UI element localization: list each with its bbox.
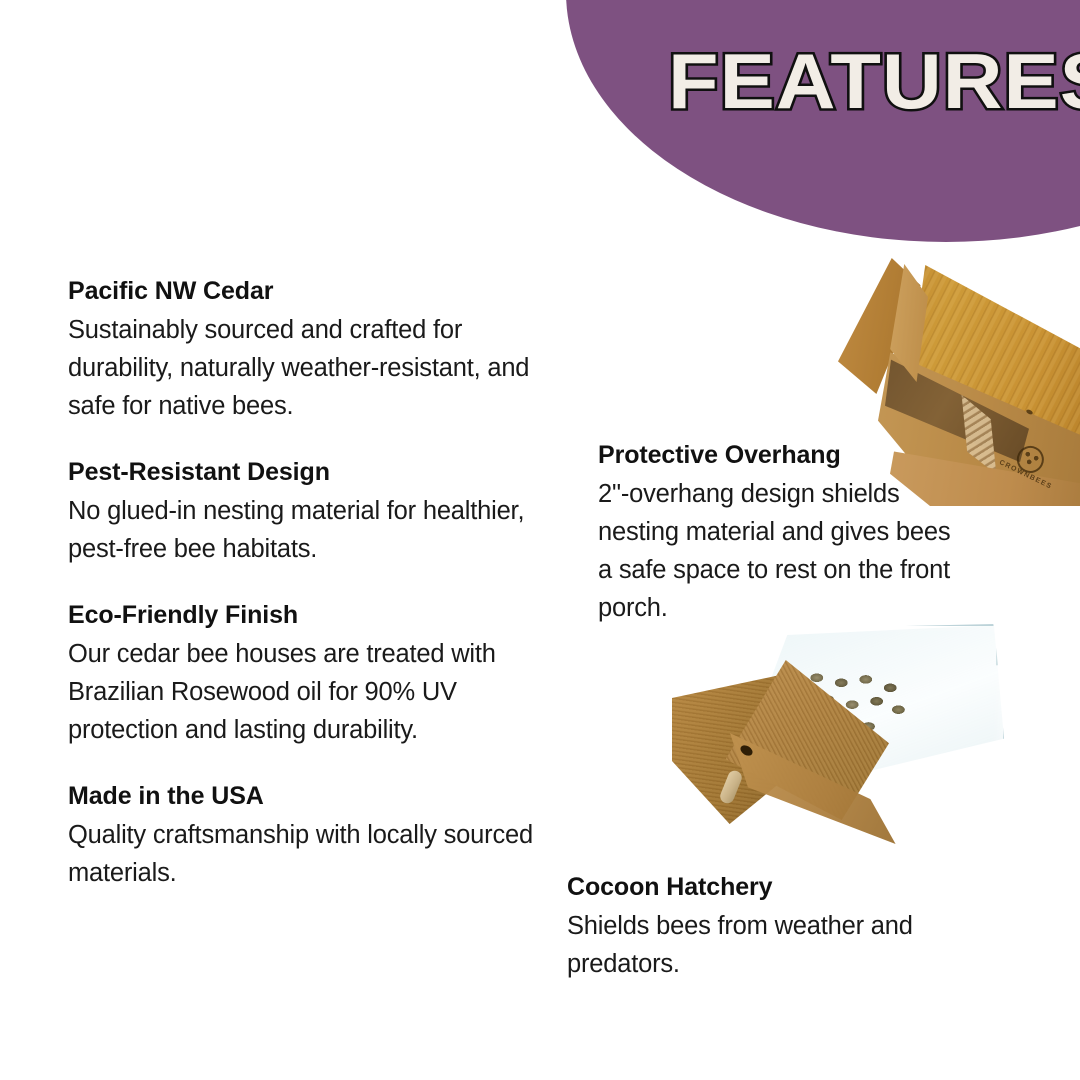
feature-item-pacific-nw-cedar: Pacific NW Cedar Sustainably sourced and… [68, 274, 538, 425]
feature-item-protective-overhang: Protective Overhang 2"-overhang design s… [598, 438, 970, 627]
right-feature-column-top: Protective Overhang 2"-overhang design s… [598, 438, 970, 627]
feature-body: Quality craftsmanship with locally sourc… [68, 816, 538, 892]
feature-body: Sustainably sourced and crafted for dura… [68, 311, 538, 425]
feature-title: Eco-Friendly Finish [68, 598, 538, 632]
feature-item-made-in-the-usa: Made in the USA Quality craftsmanship wi… [68, 779, 538, 892]
feature-item-cocoon-hatchery: Cocoon Hatchery Shields bees from weathe… [567, 870, 967, 983]
feature-body: Our cedar bee houses are treated with Br… [68, 635, 538, 749]
hatchery-tray-rim [764, 624, 998, 672]
cocoon-hatchery-photo [672, 618, 1002, 848]
right-feature-column-bottom: Cocoon Hatchery Shields bees from weathe… [567, 870, 967, 983]
feature-title: Protective Overhang [598, 438, 970, 472]
feature-title: Pest-Resistant Design [68, 455, 538, 489]
feature-title: Made in the USA [68, 779, 538, 813]
feature-body: Shields bees from weather and predators. [567, 907, 967, 983]
feature-body: No glued-in nesting material for healthi… [68, 492, 538, 568]
feature-body: 2"-overhang design shields nesting mater… [598, 475, 970, 627]
feature-item-eco-friendly-finish: Eco-Friendly Finish Our cedar bee houses… [68, 598, 538, 749]
features-infographic: FEATURES Pacific NW Cedar Sustainably so… [0, 0, 1080, 1080]
feature-title: Cocoon Hatchery [567, 870, 967, 904]
page-title: FEATURES [668, 42, 1080, 120]
feature-title: Pacific NW Cedar [68, 274, 538, 308]
left-feature-column: Pacific NW Cedar Sustainably sourced and… [68, 274, 538, 892]
feature-item-pest-resistant-design: Pest-Resistant Design No glued-in nestin… [68, 455, 538, 568]
